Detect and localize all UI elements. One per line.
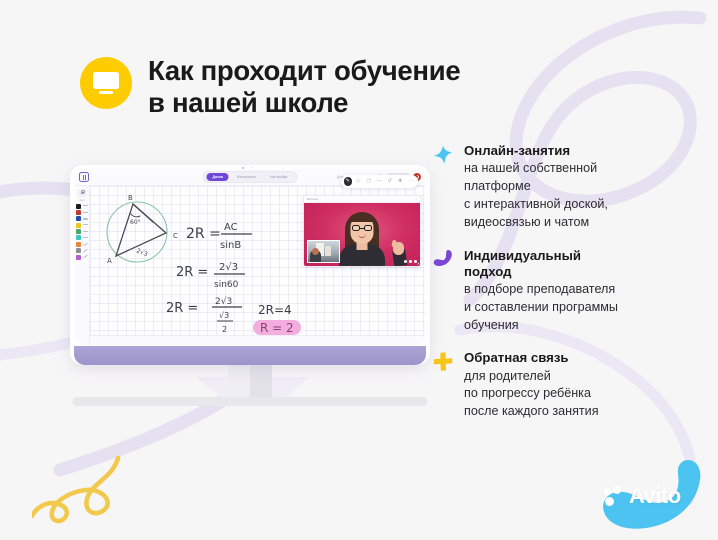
eraser-tool-icon[interactable]: ◇ (354, 177, 363, 186)
vertex-label-c: C (173, 232, 178, 240)
tab-settings[interactable]: Настройки (264, 173, 294, 181)
list-item-line: после каждого занятия (464, 403, 599, 420)
line-tool-icon[interactable]: — (375, 177, 384, 186)
angle-label: 60° (130, 219, 141, 226)
eq2-den: sin60 (214, 280, 239, 290)
page-title-line2: в нашей школе (148, 87, 460, 119)
mic-icon (404, 260, 407, 263)
stroke-medium-icon[interactable] (83, 210, 88, 214)
teacher-bangs (350, 214, 375, 222)
dash-icon[interactable] (83, 230, 88, 234)
video-feed (304, 203, 420, 266)
stroke-bold-icon[interactable] (83, 217, 88, 221)
list-item: Индивидуальный подход в подборе преподав… (432, 248, 708, 334)
glasses-bridge (360, 228, 364, 229)
video-panel-title: Вебинар (307, 197, 318, 201)
whiteboard-logo-icon[interactable] (79, 172, 89, 182)
add-tool-icon[interactable]: ✚ (396, 177, 405, 186)
color-swatch-row[interactable] (76, 210, 88, 215)
color-swatch-row[interactable] (76, 235, 88, 240)
list-item-line: для родителей (464, 368, 599, 385)
color-swatch-row[interactable] (76, 229, 88, 234)
color-swatch-green[interactable] (76, 229, 81, 234)
color-swatch-red[interactable] (76, 210, 81, 215)
eq1-num: AC (224, 222, 238, 233)
list-item-line: платформе (464, 178, 608, 195)
stroke-thin-icon[interactable] (83, 204, 88, 208)
avito-watermark: Avito (604, 483, 681, 509)
color-swatch-blue[interactable] (76, 216, 81, 221)
avito-dots-icon (604, 486, 626, 506)
yellow-squiggle-decoration (32, 452, 124, 524)
eq2-left: 2R = (176, 265, 208, 280)
floating-tool-palette: ✎ ◇ ▢ — ↺ ✚ ⋯ (341, 175, 419, 188)
dash-icon[interactable] (83, 223, 88, 227)
student-inset-video[interactable] (307, 240, 340, 263)
app-window: Доска Материалы Настройки Дополнительная… (75, 169, 425, 346)
rail-caption: Цвет (79, 199, 84, 202)
tool-rail: Цвет (75, 186, 90, 346)
more-tool-icon[interactable]: ⋯ (407, 177, 416, 186)
eq1-left: 2R = (186, 226, 221, 242)
pencil-icon[interactable] (83, 255, 88, 259)
color-swatch-row[interactable] (76, 204, 88, 209)
camera-icon (409, 260, 412, 263)
list-item-line: на нашей собственной (464, 160, 608, 177)
color-swatch-row[interactable] (76, 216, 88, 221)
color-swatch-orange[interactable] (76, 242, 81, 247)
monitor-neck (228, 365, 272, 399)
color-swatch-row[interactable] (76, 242, 88, 247)
feature-list: Онлайн-занятия на нашей собственной плат… (432, 143, 708, 437)
list-item: Обратная связь для родителей по прогресс… (432, 350, 708, 420)
pencil-icon[interactable] (83, 242, 88, 246)
color-swatch-row[interactable] (76, 248, 88, 253)
pencil-icon[interactable] (83, 249, 88, 253)
vertex-label-a: A (107, 257, 112, 265)
side-label: 2√3 (135, 247, 148, 258)
monitor-chin (74, 346, 426, 365)
video-panel-titlebar: Вебинар × (304, 196, 420, 203)
monitor-base (73, 397, 428, 406)
list-item-heading: Индивидуальный (464, 248, 618, 264)
eq1-den: sinB (220, 240, 241, 251)
eq2-num: 2√3 (219, 262, 238, 273)
crescent-icon (432, 249, 454, 271)
list-item: Онлайн-занятия на нашей собственной плат… (432, 143, 708, 231)
glasses-right-lens-icon (364, 225, 372, 231)
list-item-line: видеосвязью и чатом (464, 214, 608, 231)
video-call-panel[interactable]: Вебинар × (303, 195, 421, 267)
list-item-text: Обратная связь для родителей по прогресс… (464, 350, 599, 420)
color-swatch-purple[interactable] (76, 255, 81, 260)
eq3-left: 2R = (166, 301, 198, 316)
color-swatch-yellow[interactable] (76, 223, 81, 228)
color-swatch-black[interactable] (76, 204, 81, 209)
video-controls[interactable] (404, 260, 417, 263)
page-header: Как проходит обучение в нашей школе (80, 55, 460, 120)
monitor-icon (80, 57, 132, 109)
monitor-glyph (93, 72, 119, 94)
color-swatch-row[interactable] (76, 255, 88, 260)
list-item-line: по прогрессу ребёнка (464, 385, 599, 402)
eq4: 2R=4 (258, 303, 292, 317)
close-icon[interactable]: × (415, 197, 417, 201)
tab-board[interactable]: Доска (206, 173, 228, 181)
shapes-tool-icon[interactable]: ▢ (365, 177, 374, 186)
monitor-screen: Доска Материалы Настройки Дополнительная… (70, 165, 430, 365)
color-swatch-row[interactable] (76, 223, 88, 228)
list-item-text: Индивидуальный подход в подборе преподав… (464, 248, 618, 334)
list-item-heading: Онлайн-занятия (464, 143, 608, 159)
plus-icon (432, 351, 454, 373)
list-item-heading: Обратная связь (464, 350, 599, 366)
glasses-left-lens-icon (352, 225, 360, 231)
avito-wordmark: Avito (629, 483, 681, 509)
page-root: Как проходит обучение в нашей школе Доск… (0, 0, 718, 540)
list-item-line: с интерактивной доской, (464, 196, 608, 213)
eq-result: R = 2 (260, 321, 294, 335)
pen-tool-icon[interactable]: ✎ (344, 177, 353, 186)
list-item-line: и составлении программы (464, 299, 618, 316)
resize-handle[interactable]: ◢ (417, 261, 419, 265)
color-swatch-gray[interactable] (76, 248, 81, 253)
list-item-text: Онлайн-занятия на нашей собственной плат… (464, 143, 608, 231)
list-item-heading: подход (464, 264, 618, 280)
page-title-line1: Как проходит обучение (148, 55, 460, 87)
eq3-den-den: 2 (222, 325, 227, 334)
eq3-den-num: √3 (219, 311, 229, 320)
color-swatch-cyan[interactable] (76, 235, 81, 240)
dash-icon[interactable] (83, 236, 88, 240)
list-item-line: обучения (464, 317, 618, 334)
eq3-num: 2√3 (215, 296, 232, 307)
list-item-line: в подборе преподавателя (464, 281, 618, 298)
vertex-label-b: B (128, 194, 133, 202)
computer-illustration: Доска Материалы Настройки Дополнительная… (70, 165, 430, 365)
page-title: Как проходит обучение в нашей школе (148, 55, 460, 120)
lock-icon[interactable] (78, 189, 86, 197)
undo-tool-icon[interactable]: ↺ (386, 177, 395, 186)
tab-materials[interactable]: Материалы (231, 173, 262, 181)
app-tabs: Доска Материалы Настройки (202, 171, 297, 184)
star-icon (432, 144, 454, 166)
